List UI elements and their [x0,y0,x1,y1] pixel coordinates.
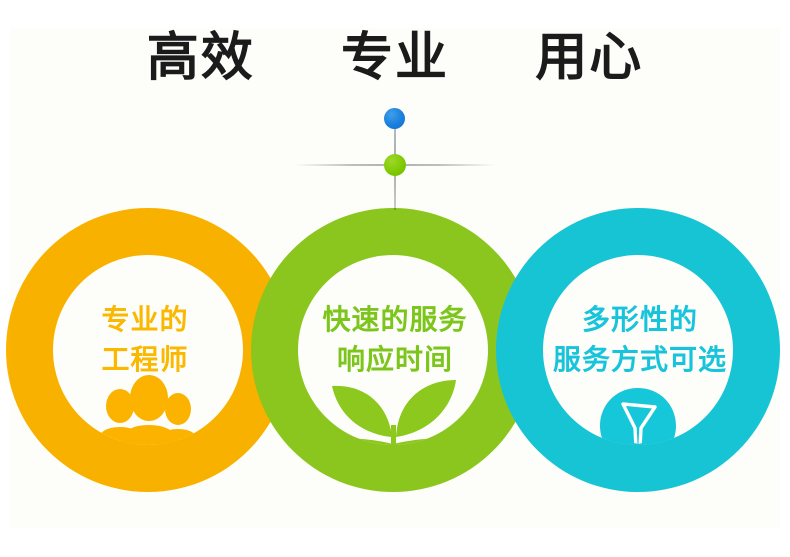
infographic-canvas: 高效 专业 用心 [0,0,790,557]
ring-cyan [0,0,790,557]
venn-rings [0,0,790,557]
